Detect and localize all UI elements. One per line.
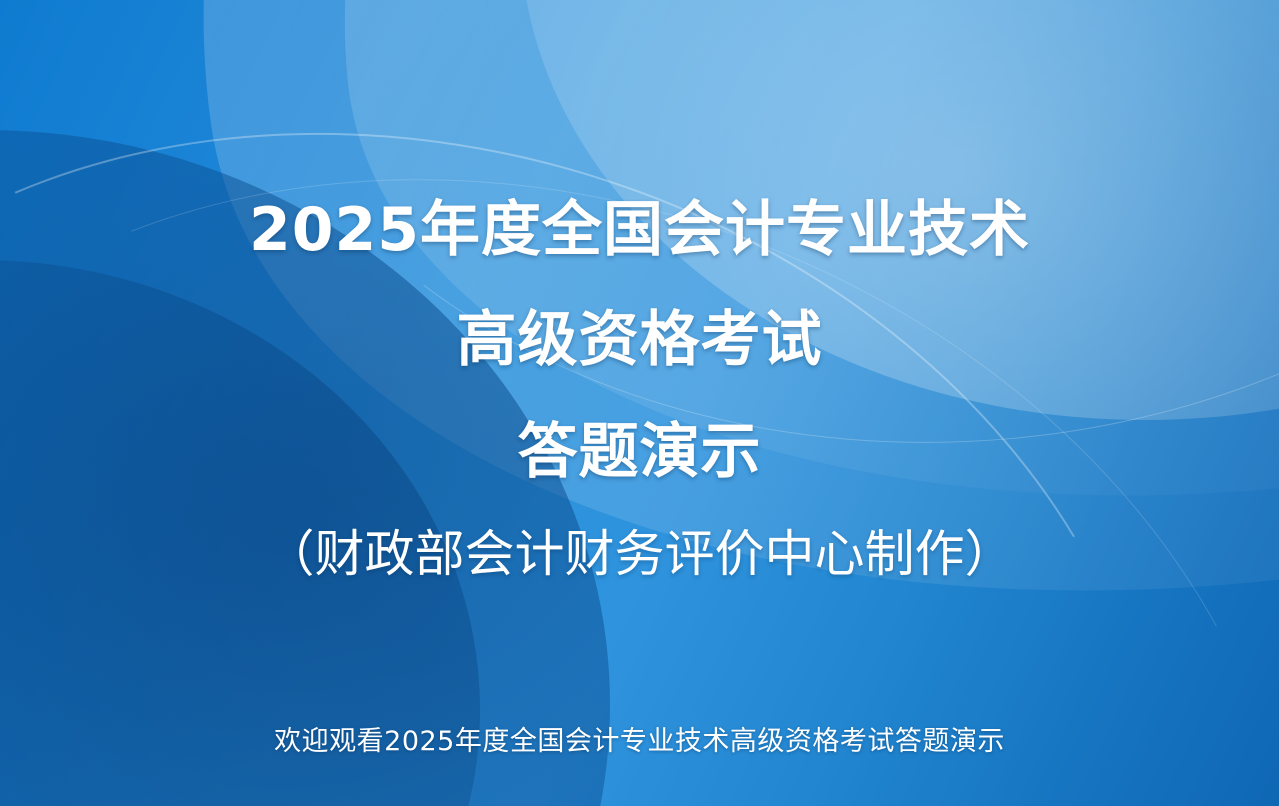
slide-subtitle: （财政部会计财务评价中心制作） xyxy=(0,528,1279,581)
slide-title-line-3: 答题演示 xyxy=(0,422,1279,482)
slide-content: 2025年度全国会计专业技术 高级资格考试 答题演示 （财政部会计财务评价中心制… xyxy=(0,0,1279,806)
slide-title-line-2: 高级资格考试 xyxy=(0,310,1279,370)
slide-title-block: 2025年度全国会计专业技术 高级资格考试 答题演示 （财政部会计财务评价中心制… xyxy=(0,200,1279,581)
slide-caption: 欢迎观看2025年度全国会计专业技术高级资格考试答题演示 xyxy=(0,719,1279,758)
slide-title-line-1: 2025年度全国会计专业技术 xyxy=(0,200,1279,260)
presentation-slide: 2025年度全国会计专业技术 高级资格考试 答题演示 （财政部会计财务评价中心制… xyxy=(0,0,1279,806)
